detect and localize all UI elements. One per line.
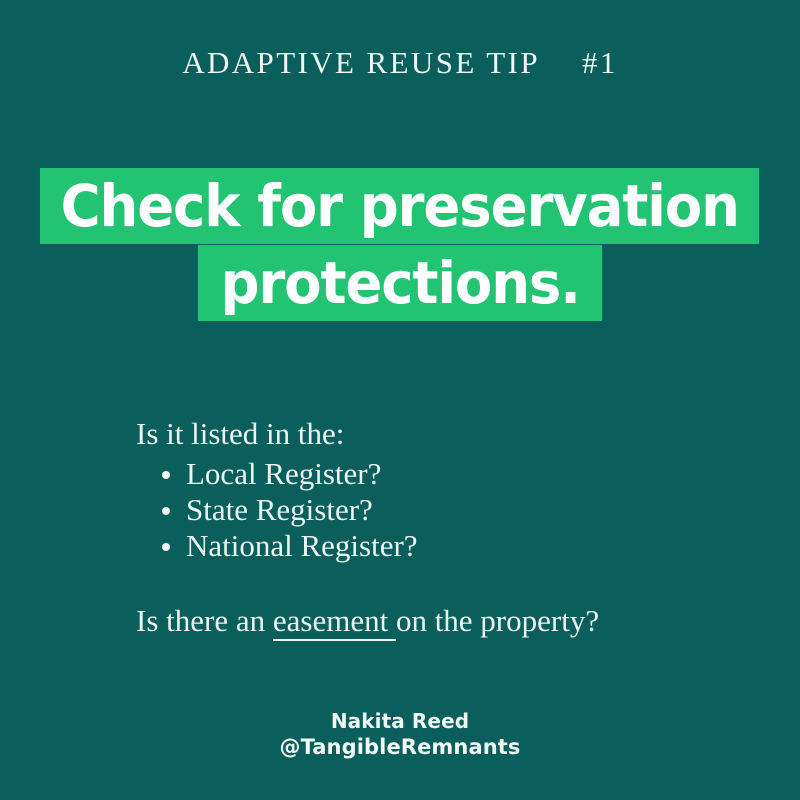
social-tip-card: ADAPTIVE REUSE TIP#1 Check for preservat… (0, 0, 800, 800)
list-item-label: State Register? (186, 492, 373, 527)
headline-line-2: protections. (0, 245, 800, 321)
footer-signature: Nakita Reed @TangibleRemnants (0, 708, 800, 761)
bullet-icon (162, 543, 170, 551)
body-copy: Is it listed in the: Local Register? Sta… (136, 416, 736, 638)
eyebrow-label: ADAPTIVE REUSE TIP (182, 45, 540, 80)
eyebrow-header: ADAPTIVE REUSE TIP#1 (0, 44, 800, 82)
headline-line-1: Check for preservation (0, 168, 800, 244)
list-item-label: National Register? (186, 528, 418, 563)
author-handle: @TangibleRemnants (0, 734, 800, 761)
question-prefix: Is there an (136, 603, 273, 638)
bullet-icon (162, 507, 170, 515)
author-name: Nakita Reed (0, 708, 800, 734)
list-item: National Register? (136, 528, 736, 563)
body-lead: Is it listed in the: (136, 416, 736, 451)
headline-line-2-text: protections. (198, 245, 602, 321)
question-suffix: on the property? (396, 603, 599, 638)
list-item: State Register? (136, 492, 736, 527)
tip-number: #1 (582, 45, 618, 80)
checklist: Local Register? State Register? National… (136, 456, 736, 563)
list-item-label: Local Register? (186, 456, 381, 491)
easement-question: Is there an easement on the property? (136, 603, 736, 638)
list-item: Local Register? (136, 456, 736, 491)
headline: Check for preservation protections. (0, 168, 800, 321)
question-emphasis: easement (273, 603, 396, 641)
headline-line-1-text: Check for preservation (40, 168, 760, 244)
bullet-icon (162, 471, 170, 479)
